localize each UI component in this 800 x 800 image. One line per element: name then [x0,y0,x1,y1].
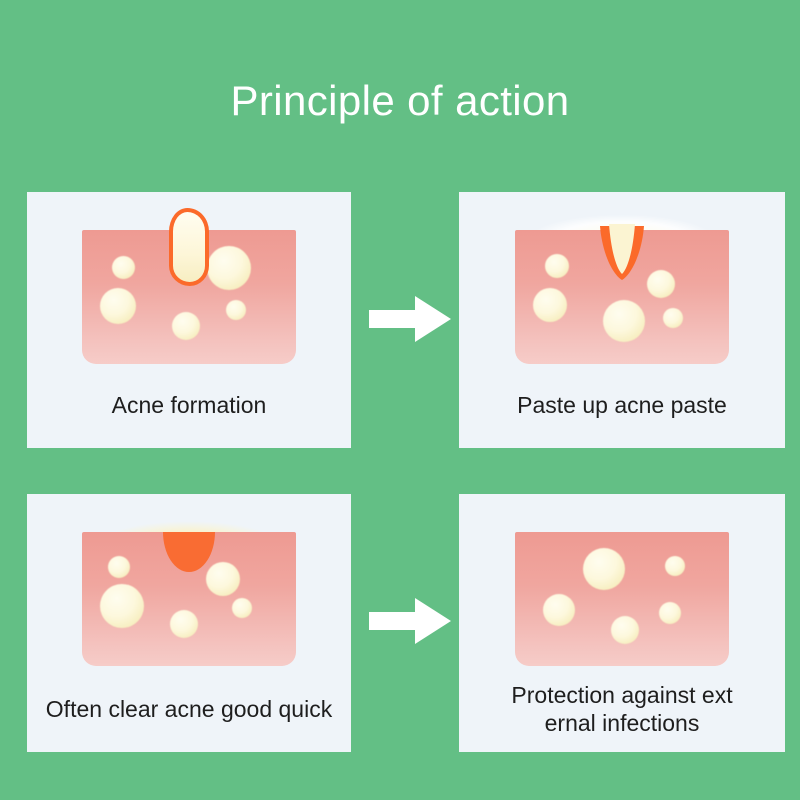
sebum-bubble [543,594,575,626]
sebum-bubble [172,312,200,340]
step-3-illustration [27,510,351,670]
sebum-bubble [583,548,625,590]
sebum-bubble [232,598,252,618]
page-title: Principle of action [0,78,800,124]
skin-cross-section-4 [515,532,729,668]
extraction-funnel [598,224,646,284]
infographic-poster: Principle of action Acne formation [0,0,800,800]
sebum-bubble [206,562,240,596]
arrow-right-icon [369,294,451,344]
step-4-illustration [459,510,785,670]
sebum-bubble [611,616,639,644]
arrow-right-icon [369,596,451,646]
sebum-bubble [108,556,130,578]
dermis-block-4 [515,532,729,666]
sebum-bubble [659,602,681,624]
step-card-4[interactable]: Protection against ext ernal infections [459,494,785,752]
step-card-1[interactable]: Acne formation [27,192,351,448]
step-4-caption-line-2: ernal infections [511,709,732,737]
step-3-caption: Often clear acne good quick [27,666,351,752]
skin-cross-section-2 [515,230,729,366]
sebum-bubble [603,300,645,342]
step-1-illustration [27,208,351,368]
sebum-bubble [545,254,569,278]
sebum-bubble [663,308,683,328]
step-1-caption: Acne formation [27,362,351,448]
step-2-caption: Paste up acne paste [459,362,785,448]
sebum-bubble [647,270,675,298]
sebum-bubble [207,246,251,290]
sebum-bubble [100,288,136,324]
sebum-bubble [100,584,144,628]
step-4-caption-line-1: Protection against ext [511,681,732,709]
sebum-bubble [533,288,567,322]
acne-pustule [169,208,209,286]
skin-cross-section-1 [82,230,296,366]
sebum-bubble [112,256,135,279]
sebum-bubble [170,610,198,638]
skin-cross-section-3 [82,532,296,668]
sebum-bubble [665,556,685,576]
step-2-illustration [459,208,785,368]
step-4-caption: Protection against ext ernal infections [459,666,785,752]
sebum-bubble [226,300,246,320]
step-card-2[interactable]: Paste up acne paste [459,192,785,448]
step-card-3[interactable]: Often clear acne good quick [27,494,351,752]
